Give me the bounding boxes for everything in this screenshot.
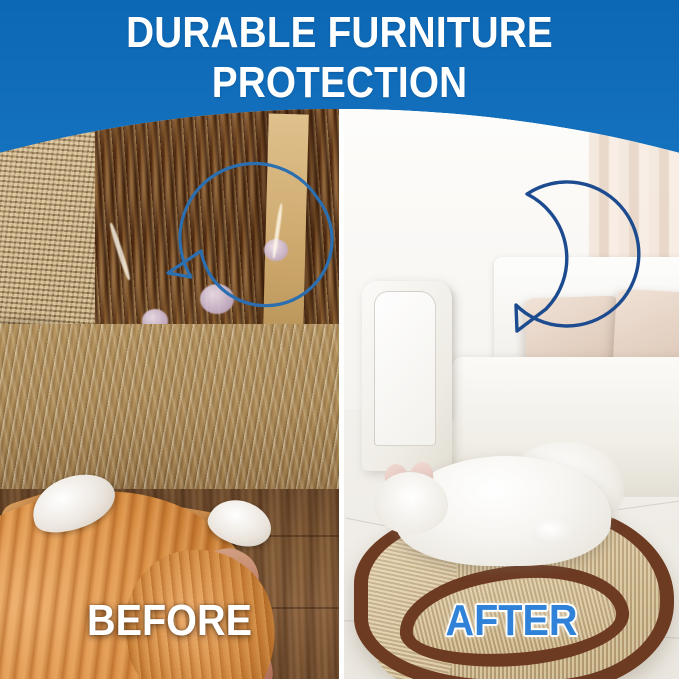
before-panel [0,109,339,679]
page-title-line-2: PROTECTION [41,58,639,108]
circle-callout-icon [376,139,576,344]
header-banner: DURABLE FURNITURE PROTECTION [0,0,679,112]
cat-scratcher-lounge [354,504,674,679]
after-panel [344,109,679,679]
comparison-photos [0,109,679,679]
shag-rug [0,324,339,499]
page-title-line-1: DURABLE FURNITURE [41,8,639,58]
circle-callout-icon [155,139,339,339]
white-cat-head [374,472,448,534]
product-comparison-poster: DURABLE FURNITURE PROTECTION [0,0,679,679]
panel-divider [339,109,344,679]
before-label: BEFORE [17,596,322,646]
after-label: AFTER [361,596,663,646]
white-cat-paw [532,520,576,544]
